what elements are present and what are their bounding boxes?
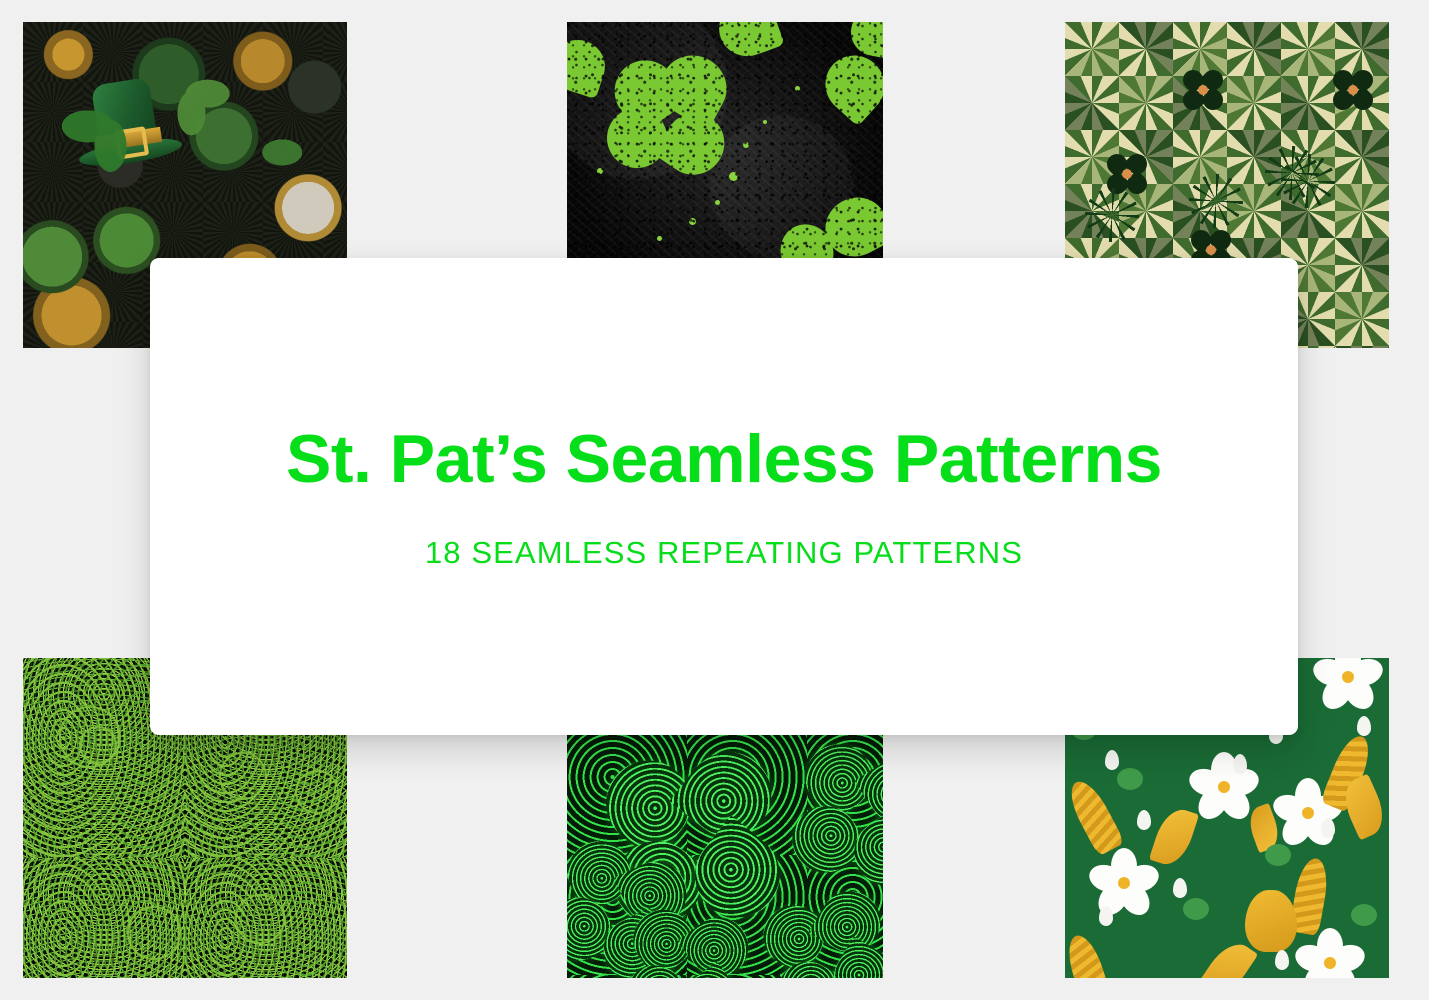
white-flower-motif <box>1187 750 1261 824</box>
white-drop-motif <box>1275 950 1289 970</box>
shamrock-leaf <box>567 33 612 99</box>
page-subtitle: 18 SEAMLESS REPEATING PATTERNS <box>425 537 1023 568</box>
clover-motif <box>786 738 883 892</box>
celtic-knot-motif <box>235 894 285 944</box>
paint-speck <box>657 236 662 241</box>
white-drop-motif <box>1137 810 1151 830</box>
paint-speck <box>689 218 696 225</box>
celtic-knot-motif <box>295 770 339 814</box>
paint-speck <box>597 168 603 174</box>
star-motif <box>1281 154 1335 208</box>
green-petal-motif <box>1117 768 1143 790</box>
gold-leaf-motif <box>1149 804 1199 870</box>
leprechaun-hat-icon <box>68 73 186 186</box>
paint-speck <box>743 142 749 148</box>
white-flower-motif <box>1293 926 1367 978</box>
green-petal-motif <box>1265 844 1291 866</box>
shamrock-leaf <box>711 22 785 64</box>
white-drop-motif <box>1233 754 1247 774</box>
clover-motif <box>1125 924 1196 978</box>
pattern-tile-swirl-clover[interactable] <box>567 735 883 978</box>
paint-speck <box>795 86 800 91</box>
clover-motif <box>1183 70 1223 110</box>
gold-wheat-motif <box>1065 931 1114 978</box>
clover-motif <box>1333 70 1373 110</box>
white-drop-motif <box>1105 750 1119 770</box>
preview-canvas: St. Pat’s Seamless Patterns 18 SEAMLESS … <box>0 0 1429 1000</box>
pattern-tile-grunge-shamrock[interactable] <box>567 22 883 258</box>
white-drop-motif <box>1099 906 1113 926</box>
celtic-knot-motif <box>79 726 117 764</box>
paint-speck <box>715 200 720 205</box>
gold-wheat-motif <box>1065 775 1125 856</box>
celtic-knot-motif <box>219 752 267 800</box>
title-card: St. Pat’s Seamless Patterns 18 SEAMLESS … <box>150 258 1298 735</box>
green-petal-motif <box>1351 904 1377 926</box>
white-drop-motif <box>1357 716 1371 736</box>
star-motif <box>1085 188 1139 242</box>
white-drop-motif <box>1321 818 1335 838</box>
paint-speck <box>763 120 767 124</box>
gold-tulip-motif <box>1245 890 1297 952</box>
page-title: St. Pat’s Seamless Patterns <box>286 425 1162 493</box>
white-drop-motif <box>1173 878 1187 898</box>
green-petal-motif <box>1183 898 1209 920</box>
star-motif <box>1189 174 1243 228</box>
celtic-knot-motif <box>127 906 181 960</box>
paint-speck <box>729 172 738 181</box>
